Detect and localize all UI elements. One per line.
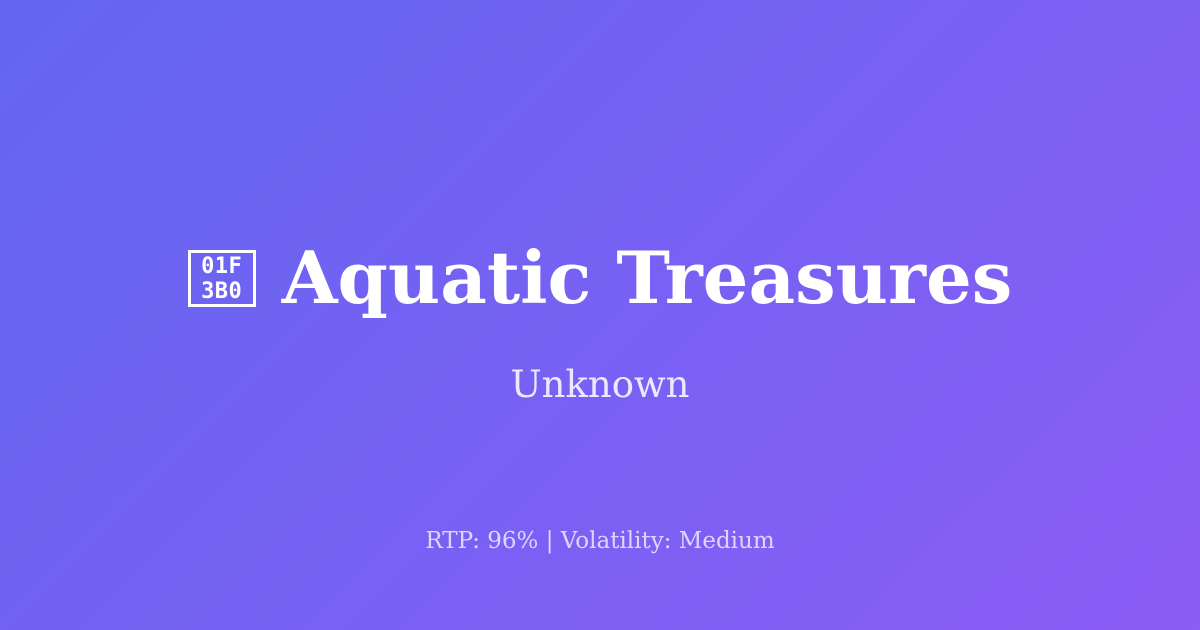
game-stats: RTP: 96% | Volatility: Medium (0, 527, 1200, 557)
game-provider: Unknown (0, 363, 1200, 407)
slot-machine-icon: 01F 3B0 (188, 250, 256, 307)
game-title: Aquatic Treasures (282, 240, 1013, 316)
tofu-codepoint-bottom: 3B0 (201, 279, 242, 304)
tofu-codepoint-top: 01F (201, 254, 242, 279)
game-preview-card: 01F 3B0 Aquatic Treasures Unknown RTP: 9… (0, 0, 1200, 630)
title-row: 01F 3B0 Aquatic Treasures (0, 232, 1200, 324)
